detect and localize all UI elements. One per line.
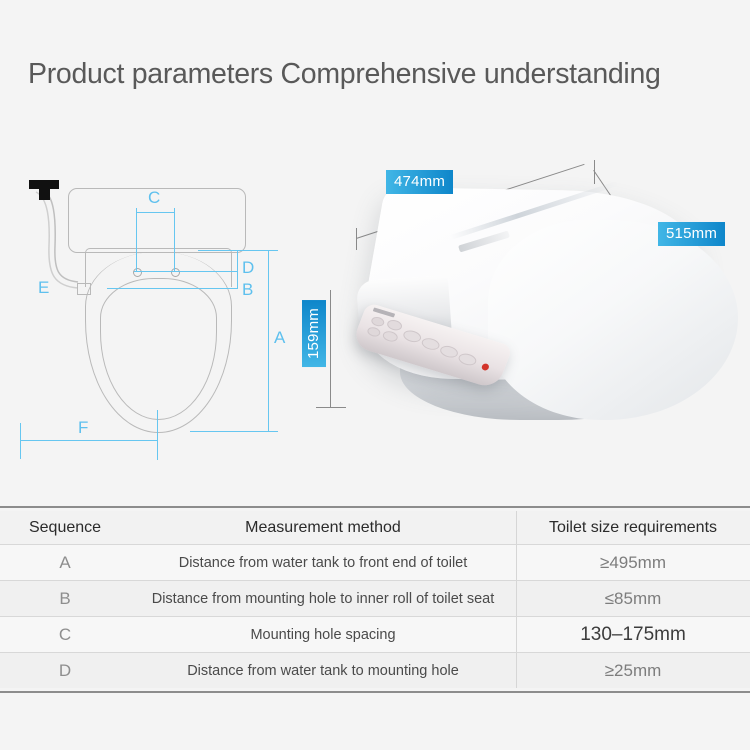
dim-label-e: E bbox=[38, 278, 49, 298]
panel-button[interactable] bbox=[366, 326, 382, 338]
specification-table: Sequence Measurement method Toilet size … bbox=[0, 506, 750, 693]
table-row: D Distance from water tank to mounting h… bbox=[0, 653, 750, 688]
dim-d-upper bbox=[198, 250, 258, 251]
table-row: B Distance from mounting hole to inner r… bbox=[0, 581, 750, 616]
page-title: Product parameters Comprehensive underst… bbox=[28, 58, 661, 91]
product-photo: 474mm 515mm bbox=[338, 160, 750, 470]
cell-sequence: A bbox=[0, 553, 130, 573]
dimension-badge-width: 474mm bbox=[386, 170, 453, 194]
cell-method: Distance from water tank to mounting hol… bbox=[130, 663, 516, 679]
panel-button[interactable] bbox=[381, 330, 399, 344]
dim-label-f: F bbox=[78, 418, 88, 438]
dim-label-a: A bbox=[274, 328, 285, 348]
column-header-method: Measurement method bbox=[130, 519, 516, 537]
dim-label-d: D bbox=[242, 258, 254, 278]
dim-c-tick-right bbox=[174, 208, 175, 272]
table-header-row: Sequence Measurement method Toilet size … bbox=[0, 511, 750, 544]
guide-tick-height-bottom bbox=[316, 407, 346, 408]
column-header-sequence: Sequence bbox=[0, 519, 130, 537]
mounting-hole-right bbox=[171, 268, 180, 277]
panel-button[interactable] bbox=[438, 344, 459, 360]
cell-requirement: ≤85mm bbox=[516, 589, 750, 609]
panel-button[interactable] bbox=[457, 352, 478, 368]
cell-requirement: ≥25mm bbox=[516, 661, 750, 681]
dim-f-tick-right bbox=[157, 410, 158, 460]
table-row: C Mounting hole spacing 130–175mm bbox=[0, 617, 750, 652]
water-hose bbox=[24, 184, 104, 304]
cell-sequence: B bbox=[0, 589, 130, 609]
dim-f-line bbox=[20, 440, 158, 441]
panel-button[interactable] bbox=[402, 329, 423, 345]
cell-requirement: ≥495mm bbox=[516, 553, 750, 573]
mounting-hole-left bbox=[133, 268, 142, 277]
table-bottom-rule bbox=[0, 691, 750, 693]
table-column-divider bbox=[516, 545, 517, 580]
table-column-divider bbox=[516, 511, 517, 544]
dim-label-c: C bbox=[148, 188, 160, 208]
panel-power-indicator bbox=[481, 363, 490, 372]
cell-method: Mounting hole spacing bbox=[130, 627, 516, 643]
dim-b-tick bbox=[237, 271, 238, 289]
dim-c-line bbox=[136, 212, 175, 213]
water-valve-stem-icon bbox=[39, 180, 50, 200]
dim-d-tick-top bbox=[237, 250, 238, 272]
table-column-divider bbox=[516, 653, 517, 688]
dimension-badge-height: 159mm bbox=[302, 300, 326, 367]
cell-sequence: D bbox=[0, 661, 130, 681]
dim-f-tick-left bbox=[20, 423, 21, 459]
cell-method: Distance from mounting hole to inner rol… bbox=[130, 591, 516, 607]
guide-tick-width-left bbox=[356, 228, 357, 250]
dim-d-line bbox=[134, 271, 238, 272]
table-row: A Distance from water tank to front end … bbox=[0, 545, 750, 580]
column-header-requirement: Toilet size requirements bbox=[516, 519, 750, 537]
cell-method: Distance from water tank to front end of… bbox=[130, 555, 516, 571]
dim-a-tick-top bbox=[258, 250, 278, 251]
dim-b-line bbox=[107, 288, 238, 289]
cell-sequence: C bbox=[0, 625, 130, 645]
panel-button[interactable] bbox=[420, 336, 441, 352]
hose-connector bbox=[77, 283, 91, 295]
panel-button[interactable] bbox=[370, 315, 386, 327]
dim-c-tick-left bbox=[136, 208, 137, 272]
guide-line-height bbox=[330, 290, 331, 408]
technical-diagram: C D B A E F bbox=[0, 160, 330, 470]
table-column-divider bbox=[516, 581, 517, 616]
dimension-badge-depth: 515mm bbox=[658, 222, 725, 246]
dim-label-b: B bbox=[242, 280, 253, 300]
cell-requirement: 130–175mm bbox=[516, 624, 750, 646]
table-column-divider bbox=[516, 617, 517, 652]
dim-a-line bbox=[268, 250, 269, 432]
seat-lid-front bbox=[488, 220, 738, 420]
dim-a-tick-bottom bbox=[190, 431, 278, 432]
